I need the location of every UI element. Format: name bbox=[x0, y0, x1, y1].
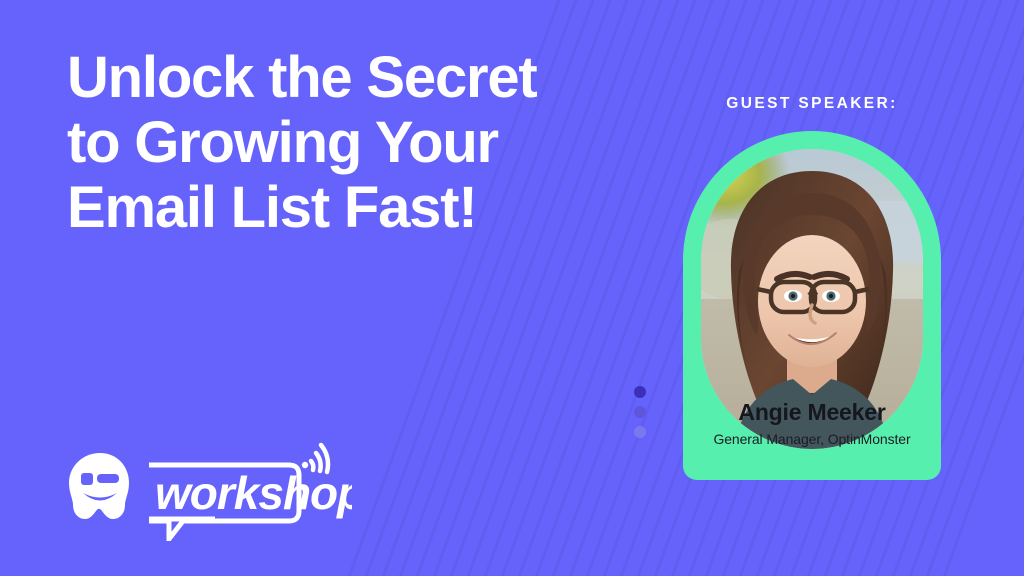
speaker-name: Angie Meeker bbox=[683, 399, 941, 426]
dot-2 bbox=[634, 406, 646, 418]
dot-1 bbox=[634, 386, 646, 398]
dot-3 bbox=[634, 426, 646, 438]
speaker-title: General Manager, OptinMonster bbox=[683, 431, 941, 447]
workshop-logo-graphic: workshop bbox=[67, 441, 352, 541]
monster-mascot-icon bbox=[69, 453, 129, 519]
speaker-card: Angie Meeker General Manager, OptinMonst… bbox=[683, 131, 941, 480]
decorative-dots bbox=[634, 386, 648, 440]
workshop-wordmark: workshop bbox=[155, 467, 352, 519]
page-title: Unlock the Secret to Growing Your Email … bbox=[67, 46, 587, 241]
guest-speaker-label: GUEST SPEAKER: bbox=[683, 95, 941, 113]
workshop-logo[interactable]: workshop bbox=[67, 441, 352, 541]
